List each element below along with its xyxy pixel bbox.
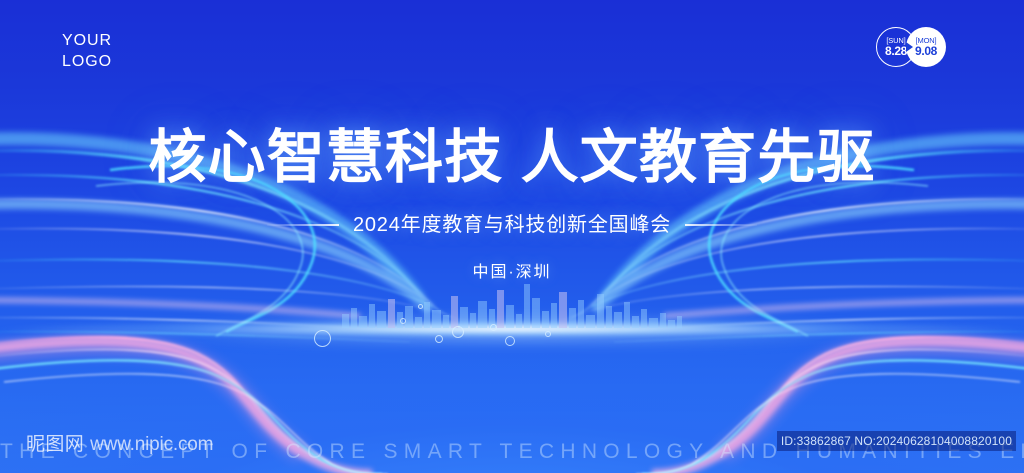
page-title: 核心智慧科技 人文教育先驱 xyxy=(0,122,1024,194)
bubble-decoration xyxy=(435,335,443,343)
bubble-decoration xyxy=(545,331,551,337)
watermark-brand: 昵图网 www.nipic.com xyxy=(26,433,213,457)
bubble-decoration xyxy=(452,326,464,338)
watermark-site-name: 昵图网 xyxy=(26,433,84,457)
date-start-day: 8.28 xyxy=(885,45,907,58)
event-date-badges: [SUN] 8.28 [MON] 9.08 xyxy=(876,27,962,67)
watermark-site-url: www.nipic.com xyxy=(90,433,213,457)
bubble-decoration xyxy=(400,318,406,324)
event-subtitle: 2024年度教育与科技创新全国峰会 xyxy=(353,212,671,238)
watermark-asset-id: ID:33862867 NO:20240628104008820100 xyxy=(777,431,1016,451)
poster-canvas: YOUR LOGO [SUN] 8.28 [MON] 9.08 核心智慧科技 人… xyxy=(0,0,1024,473)
subtitle-rule-right xyxy=(685,224,757,225)
bubble-decoration xyxy=(490,324,497,331)
date-range-arrow-icon xyxy=(906,42,913,52)
brand-logo-line2: LOGO xyxy=(62,51,112,72)
date-end-day: 9.08 xyxy=(915,45,937,58)
bubble-decoration xyxy=(314,330,331,347)
city-skyline-icon xyxy=(340,278,684,328)
bubble-decoration xyxy=(505,336,515,346)
bubble-decoration xyxy=(418,304,423,309)
subtitle-rule-left xyxy=(267,224,339,225)
brand-logo[interactable]: YOUR LOGO xyxy=(62,30,112,72)
event-location: 中国·深圳 xyxy=(0,262,1024,284)
subtitle-row: 2024年度教育与科技创新全国峰会 xyxy=(0,212,1024,238)
brand-logo-line1: YOUR xyxy=(62,30,112,51)
